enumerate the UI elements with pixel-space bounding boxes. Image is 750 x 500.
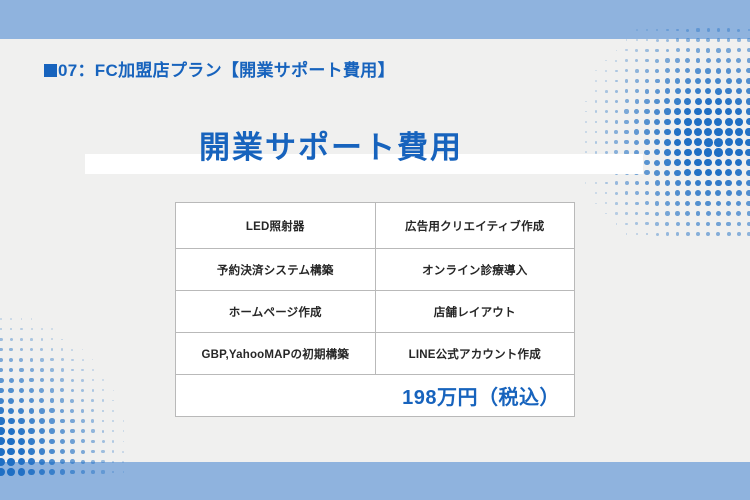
- halftone-dot: [585, 121, 587, 123]
- halftone-dot: [51, 338, 53, 340]
- halftone-dot: [30, 338, 33, 341]
- halftone-dot: [625, 79, 628, 82]
- halftone-dot: [39, 418, 45, 424]
- halftone-dot: [715, 98, 722, 105]
- plan-item-cell: ホームページ作成: [176, 291, 376, 333]
- halftone-dot: [605, 60, 607, 62]
- plan-item-cell: GBP,YahooMAPの初期構築: [176, 333, 376, 375]
- halftone-dot: [61, 348, 63, 350]
- halftone-dot: [625, 49, 627, 51]
- halftone-dot: [0, 388, 4, 394]
- halftone-dot: [666, 232, 669, 235]
- halftone-dot: [675, 68, 680, 73]
- table-row: 予約決済システム構築 オンライン診療導入: [176, 249, 575, 291]
- halftone-dot: [20, 348, 23, 351]
- halftone-dot: [585, 182, 586, 183]
- halftone-dot: [685, 211, 690, 216]
- halftone-dot: [616, 223, 618, 225]
- halftone-dot: [626, 233, 628, 235]
- halftone-dot: [704, 118, 712, 126]
- halftone-dot: [726, 78, 732, 84]
- halftone-dot: [695, 78, 701, 84]
- halftone-dot: [21, 318, 23, 320]
- plan-item-cell: オンライン診療導入: [375, 249, 575, 291]
- halftone-dot: [685, 88, 691, 94]
- halftone-dot: [646, 39, 649, 42]
- halftone-dot: [595, 203, 596, 204]
- halftone-dot: [19, 388, 24, 393]
- table-row-total: 198万円（税込）: [176, 375, 575, 417]
- halftone-dot: [635, 49, 638, 52]
- plan-item-cell: 予約決済システム構築: [176, 249, 376, 291]
- halftone-dot: [665, 78, 670, 83]
- halftone-dot: [665, 201, 670, 206]
- halftone-dot: [0, 328, 2, 331]
- halftone-dot: [714, 118, 722, 126]
- halftone-dot: [675, 78, 681, 84]
- halftone-dot: [60, 439, 65, 444]
- table-row: ホームページ作成 店舗レイアウト: [176, 291, 575, 333]
- halftone-dot: [705, 88, 712, 95]
- halftone-dot: [695, 201, 701, 207]
- halftone-dot: [645, 201, 649, 205]
- halftone-dot: [676, 48, 680, 52]
- halftone-dot: [695, 88, 702, 95]
- halftone-dot: [686, 232, 690, 236]
- halftone-dot: [684, 118, 692, 126]
- halftone-dot: [49, 408, 54, 413]
- halftone-dot: [675, 58, 680, 63]
- halftone-dot: [39, 388, 44, 393]
- halftone-dot: [695, 68, 700, 73]
- halftone-dot: [7, 438, 14, 445]
- halftone-dot: [595, 182, 597, 184]
- halftone-dot: [91, 429, 94, 432]
- halftone-dot: [112, 410, 114, 412]
- halftone-dot: [29, 398, 34, 403]
- halftone-dot: [81, 450, 85, 454]
- halftone-dot: [685, 190, 691, 196]
- halftone-dot: [123, 420, 125, 422]
- halftone-dot: [28, 438, 35, 445]
- halftone-dot: [595, 100, 597, 102]
- halftone-dot: [685, 68, 690, 73]
- halftone-dot: [706, 211, 711, 216]
- halftone-dot: [9, 378, 14, 383]
- halftone-dot: [645, 59, 649, 63]
- halftone-dot: [0, 417, 5, 424]
- halftone-dot: [635, 59, 638, 62]
- halftone-dot: [655, 212, 659, 216]
- plan-item-cell: LINE公式アカウント作成: [375, 333, 575, 375]
- halftone-dot: [625, 69, 628, 72]
- halftone-dot: [20, 328, 22, 330]
- halftone-dot: [727, 232, 731, 236]
- halftone-dot: [736, 78, 742, 84]
- halftone-dot: [726, 211, 731, 216]
- halftone-dot: [625, 89, 629, 93]
- halftone-dot: [51, 348, 54, 351]
- halftone-dot: [725, 98, 732, 105]
- slide-canvas: 07：FC加盟店プラン【開業サポート費用】 開業サポート費用 LED照射器 広告…: [0, 0, 750, 500]
- halftone-dot: [81, 379, 84, 382]
- halftone-dot: [746, 98, 750, 104]
- halftone-dot: [0, 427, 5, 435]
- halftone-dot: [715, 190, 721, 196]
- halftone-dot: [645, 222, 648, 225]
- halftone-dot: [664, 119, 671, 126]
- halftone-dot: [0, 338, 3, 341]
- halftone-dot: [715, 88, 722, 95]
- halftone-dot: [655, 69, 659, 73]
- halftone-dot: [716, 232, 720, 236]
- halftone-dot: [705, 78, 711, 84]
- halftone-dot: [676, 222, 680, 226]
- halftone-dot: [113, 390, 114, 391]
- total-price: 198万円（税込）: [176, 375, 575, 417]
- halftone-dot: [10, 318, 12, 320]
- halftone-dot: [635, 69, 639, 73]
- halftone-dot: [684, 108, 691, 115]
- halftone-dot: [625, 99, 629, 103]
- halftone-dot: [40, 378, 44, 382]
- halftone-dot: [70, 449, 75, 454]
- halftone-dot: [615, 212, 617, 214]
- halftone-dot: [656, 233, 659, 236]
- halftone-dot: [646, 233, 649, 236]
- section-kicker: 07：FC加盟店プラン【開業サポート費用】: [44, 56, 395, 81]
- halftone-dot: [695, 98, 702, 105]
- halftone-dot: [101, 450, 104, 453]
- halftone-dot: [645, 69, 649, 73]
- halftone-dot: [715, 78, 721, 84]
- halftone-dot: [49, 449, 55, 455]
- halftone-dot: [675, 190, 681, 196]
- halftone-dot: [726, 201, 732, 207]
- halftone-dot: [0, 398, 4, 404]
- halftone-dot: [625, 202, 628, 205]
- halftone-dot: [615, 120, 619, 124]
- halftone-dot: [60, 419, 65, 424]
- halftone-dot: [635, 202, 639, 206]
- halftone-dot: [102, 379, 104, 381]
- halftone-dot: [685, 58, 690, 63]
- halftone-dot: [0, 448, 5, 456]
- square-bullet-icon: [44, 64, 57, 77]
- halftone-dot: [19, 398, 25, 404]
- halftone-dot: [49, 428, 54, 433]
- halftone-dot: [615, 100, 618, 103]
- halftone-dot: [82, 349, 83, 350]
- bottom-accent-band: [0, 462, 750, 500]
- halftone-dot: [615, 70, 618, 73]
- halftone-dot: [605, 182, 608, 185]
- halftone-dot: [71, 389, 75, 393]
- halftone-dot: [71, 369, 74, 372]
- halftone-dot: [595, 90, 597, 92]
- halftone-dot: [605, 213, 607, 215]
- halftone-dot: [644, 119, 650, 125]
- halftone-dot: [40, 368, 44, 372]
- halftone-dot: [29, 378, 34, 383]
- halftone-dot: [635, 222, 638, 225]
- halftone-dot: [746, 108, 750, 115]
- halftone-dot: [615, 192, 618, 195]
- halftone-dot: [694, 118, 702, 126]
- plan-items-table: LED照射器 広告用クリエイティブ作成 予約決済システム構築 オンライン診療導入…: [175, 202, 575, 417]
- halftone-dot: [60, 378, 64, 382]
- halftone-dot: [39, 448, 45, 454]
- halftone-dot: [695, 190, 701, 196]
- halftone-dot: [60, 449, 65, 454]
- halftone-dot: [112, 400, 114, 402]
- halftone-dot: [616, 50, 618, 52]
- halftone-dot: [736, 58, 741, 63]
- halftone-dot: [716, 222, 720, 226]
- halftone-dot: [8, 428, 15, 435]
- halftone-dot: [50, 368, 54, 372]
- halftone-dot: [625, 59, 628, 62]
- halftone-dot: [696, 222, 700, 226]
- halftone-dot: [30, 358, 34, 362]
- halftone-dot: [615, 202, 618, 205]
- halftone-dot: [746, 190, 750, 196]
- halftone-dot: [40, 348, 43, 351]
- section-kicker-label: 07：FC加盟店プラン【開業サポート費用】: [58, 61, 395, 80]
- halftone-dot: [60, 429, 65, 434]
- halftone-dot: [654, 119, 660, 125]
- plan-items-body: LED照射器 広告用クリエイティブ作成 予約決済システム構築 オンライン診療導入…: [176, 203, 575, 417]
- halftone-dot: [102, 410, 105, 413]
- halftone-dot: [665, 58, 669, 62]
- halftone-dot: [8, 408, 14, 414]
- halftone-dot: [91, 409, 94, 412]
- halftone-dot: [112, 440, 114, 442]
- halftone-dot: [665, 88, 671, 94]
- halftone-dot: [686, 222, 690, 226]
- halftone-dot: [50, 378, 54, 382]
- halftone-dot: [51, 328, 52, 329]
- halftone-dot: [736, 190, 742, 196]
- plan-item-cell: LED照射器: [176, 203, 376, 249]
- halftone-dot: [706, 232, 710, 236]
- halftone-dot: [61, 358, 64, 361]
- halftone-dot: [39, 428, 45, 434]
- halftone-dot: [746, 118, 750, 125]
- halftone-dot: [726, 68, 731, 73]
- halftone-dot: [675, 201, 680, 206]
- halftone-dot: [605, 100, 608, 103]
- halftone-dot: [605, 120, 608, 123]
- halftone-dot: [645, 212, 649, 216]
- halftone-dot: [81, 389, 84, 392]
- halftone-dot: [615, 80, 618, 83]
- halftone-dot: [71, 359, 73, 361]
- halftone-dot: [595, 70, 596, 71]
- halftone-dot: [585, 111, 587, 113]
- halftone-dot: [82, 359, 84, 361]
- halftone-dot: [736, 201, 741, 206]
- halftone-dot: [112, 450, 114, 452]
- halftone-dot: [705, 201, 711, 207]
- halftone-dot: [605, 192, 607, 194]
- halftone-dot: [112, 430, 114, 432]
- halftone-dot: [654, 99, 660, 105]
- halftone-dot: [122, 451, 124, 453]
- halftone-dot: [39, 398, 44, 403]
- halftone-dot: [70, 399, 74, 403]
- halftone-dot: [18, 438, 25, 445]
- halftone-dot: [92, 389, 95, 392]
- halftone-dot: [9, 348, 13, 352]
- halftone-dot: [665, 222, 669, 226]
- halftone-dot: [0, 318, 2, 320]
- halftone-dot: [625, 223, 627, 225]
- halftone-dot: [746, 68, 750, 73]
- halftone-dot: [674, 108, 681, 115]
- halftone-dot: [615, 90, 618, 93]
- halftone-dot: [696, 48, 700, 52]
- halftone-dot: [70, 429, 75, 434]
- halftone-dot: [7, 448, 15, 456]
- halftone-dot: [635, 79, 639, 83]
- halftone-dot: [70, 439, 75, 444]
- halftone-dot: [31, 328, 33, 330]
- halftone-dot: [81, 409, 85, 413]
- halftone-dot: [735, 118, 742, 125]
- halftone-dot: [655, 89, 660, 94]
- halftone-dot: [655, 222, 659, 226]
- halftone-dots-bottom-left-icon: [0, 268, 140, 468]
- halftone-dot: [737, 232, 741, 236]
- halftone-dot: [726, 190, 732, 196]
- halftone-dot: [655, 191, 660, 196]
- halftone-dot: [716, 201, 722, 207]
- halftone-dot: [81, 399, 84, 402]
- halftone-dot: [91, 450, 95, 454]
- halftone-dot: [736, 88, 742, 94]
- halftone-dot: [112, 420, 114, 422]
- halftone-dot: [18, 408, 24, 414]
- halftone-dot: [71, 379, 74, 382]
- halftone-dot: [726, 58, 731, 63]
- halftone-dot: [666, 39, 669, 42]
- halftone-dot: [81, 429, 85, 433]
- halftone-dot: [41, 338, 43, 340]
- halftone-dot: [8, 418, 15, 425]
- halftone-dot: [655, 59, 659, 63]
- halftone-dot: [0, 437, 5, 445]
- halftone-dot: [625, 212, 628, 215]
- halftone-dot: [60, 409, 65, 414]
- halftone-dot: [595, 192, 597, 194]
- halftone-dot: [19, 368, 23, 372]
- halftone-dot: [91, 440, 95, 444]
- halftone-dot: [30, 348, 33, 351]
- halftone-dot: [91, 419, 94, 422]
- halftone-dot: [664, 108, 670, 114]
- halftone-dot: [615, 110, 619, 114]
- halftone-dot: [666, 49, 670, 53]
- halftone-dot: [725, 108, 732, 115]
- halftone-dot: [19, 358, 23, 362]
- halftone-dot: [644, 109, 649, 114]
- halftone-dot: [605, 110, 608, 113]
- halftone-dot: [585, 101, 587, 103]
- halftone-dot: [684, 98, 691, 105]
- halftone-dot: [625, 191, 629, 195]
- halftone-dot: [0, 348, 3, 352]
- halftone-dot: [0, 407, 4, 414]
- halftone-dot: [41, 328, 43, 330]
- halftone-dot: [696, 232, 700, 236]
- halftone-dot: [49, 439, 55, 445]
- halftone-dot: [20, 338, 23, 341]
- halftone-dot: [725, 88, 731, 94]
- halftone-dot: [39, 438, 45, 444]
- halftone-dot: [665, 68, 670, 73]
- halftone-dot: [92, 369, 94, 371]
- halftone-dot: [605, 80, 607, 82]
- halftone-dot: [735, 98, 742, 105]
- halftone-dot: [19, 378, 24, 383]
- halftone-dot: [123, 430, 125, 432]
- halftone-dot: [726, 222, 730, 226]
- halftone-dot: [654, 109, 660, 115]
- halftone-dot: [746, 201, 750, 206]
- halftone-dot: [49, 418, 54, 423]
- halftone-dot: [696, 211, 701, 216]
- halftone-dot: [716, 48, 720, 52]
- halftone-dot: [50, 388, 54, 392]
- halftone-dot: [746, 88, 750, 94]
- halftone-dot: [665, 211, 669, 215]
- halftone-dot: [645, 191, 649, 195]
- halftone-dot: [636, 39, 638, 41]
- halftone-dot: [696, 58, 701, 63]
- halftone-dot: [737, 48, 741, 52]
- halftone-dot: [737, 222, 741, 226]
- halftone-dot: [655, 79, 660, 84]
- halftone-dot: [636, 233, 638, 235]
- page-title: 開業サポート費用: [0, 126, 662, 170]
- halftone-dot: [715, 108, 723, 116]
- halftone-dot: [50, 398, 55, 403]
- halftone-dot: [665, 191, 670, 196]
- halftone-dot: [746, 78, 750, 84]
- halftone-dot: [705, 98, 712, 105]
- halftone-dot: [706, 58, 711, 63]
- halftone-dot: [30, 368, 34, 372]
- halftone-dot: [102, 440, 105, 443]
- halftone-dot: [10, 328, 12, 330]
- halftone-dot: [676, 232, 680, 236]
- halftone-dot: [644, 99, 649, 104]
- table-row: LED照射器 広告用クリエイティブ作成: [176, 203, 575, 249]
- halftone-dot: [685, 201, 690, 206]
- halftone-dot: [716, 211, 721, 216]
- halftone-dot: [716, 58, 721, 63]
- halftone-dot: [635, 191, 639, 195]
- halftone-dot: [39, 408, 44, 413]
- halftone-dot: [595, 80, 597, 82]
- halftone-dot: [70, 419, 74, 423]
- halftone-dot: [634, 109, 639, 114]
- halftone-dot: [736, 68, 741, 73]
- halftone-dot: [706, 222, 710, 226]
- halftone-dot: [102, 420, 105, 423]
- plan-item-cell: 店舗レイアウト: [375, 291, 575, 333]
